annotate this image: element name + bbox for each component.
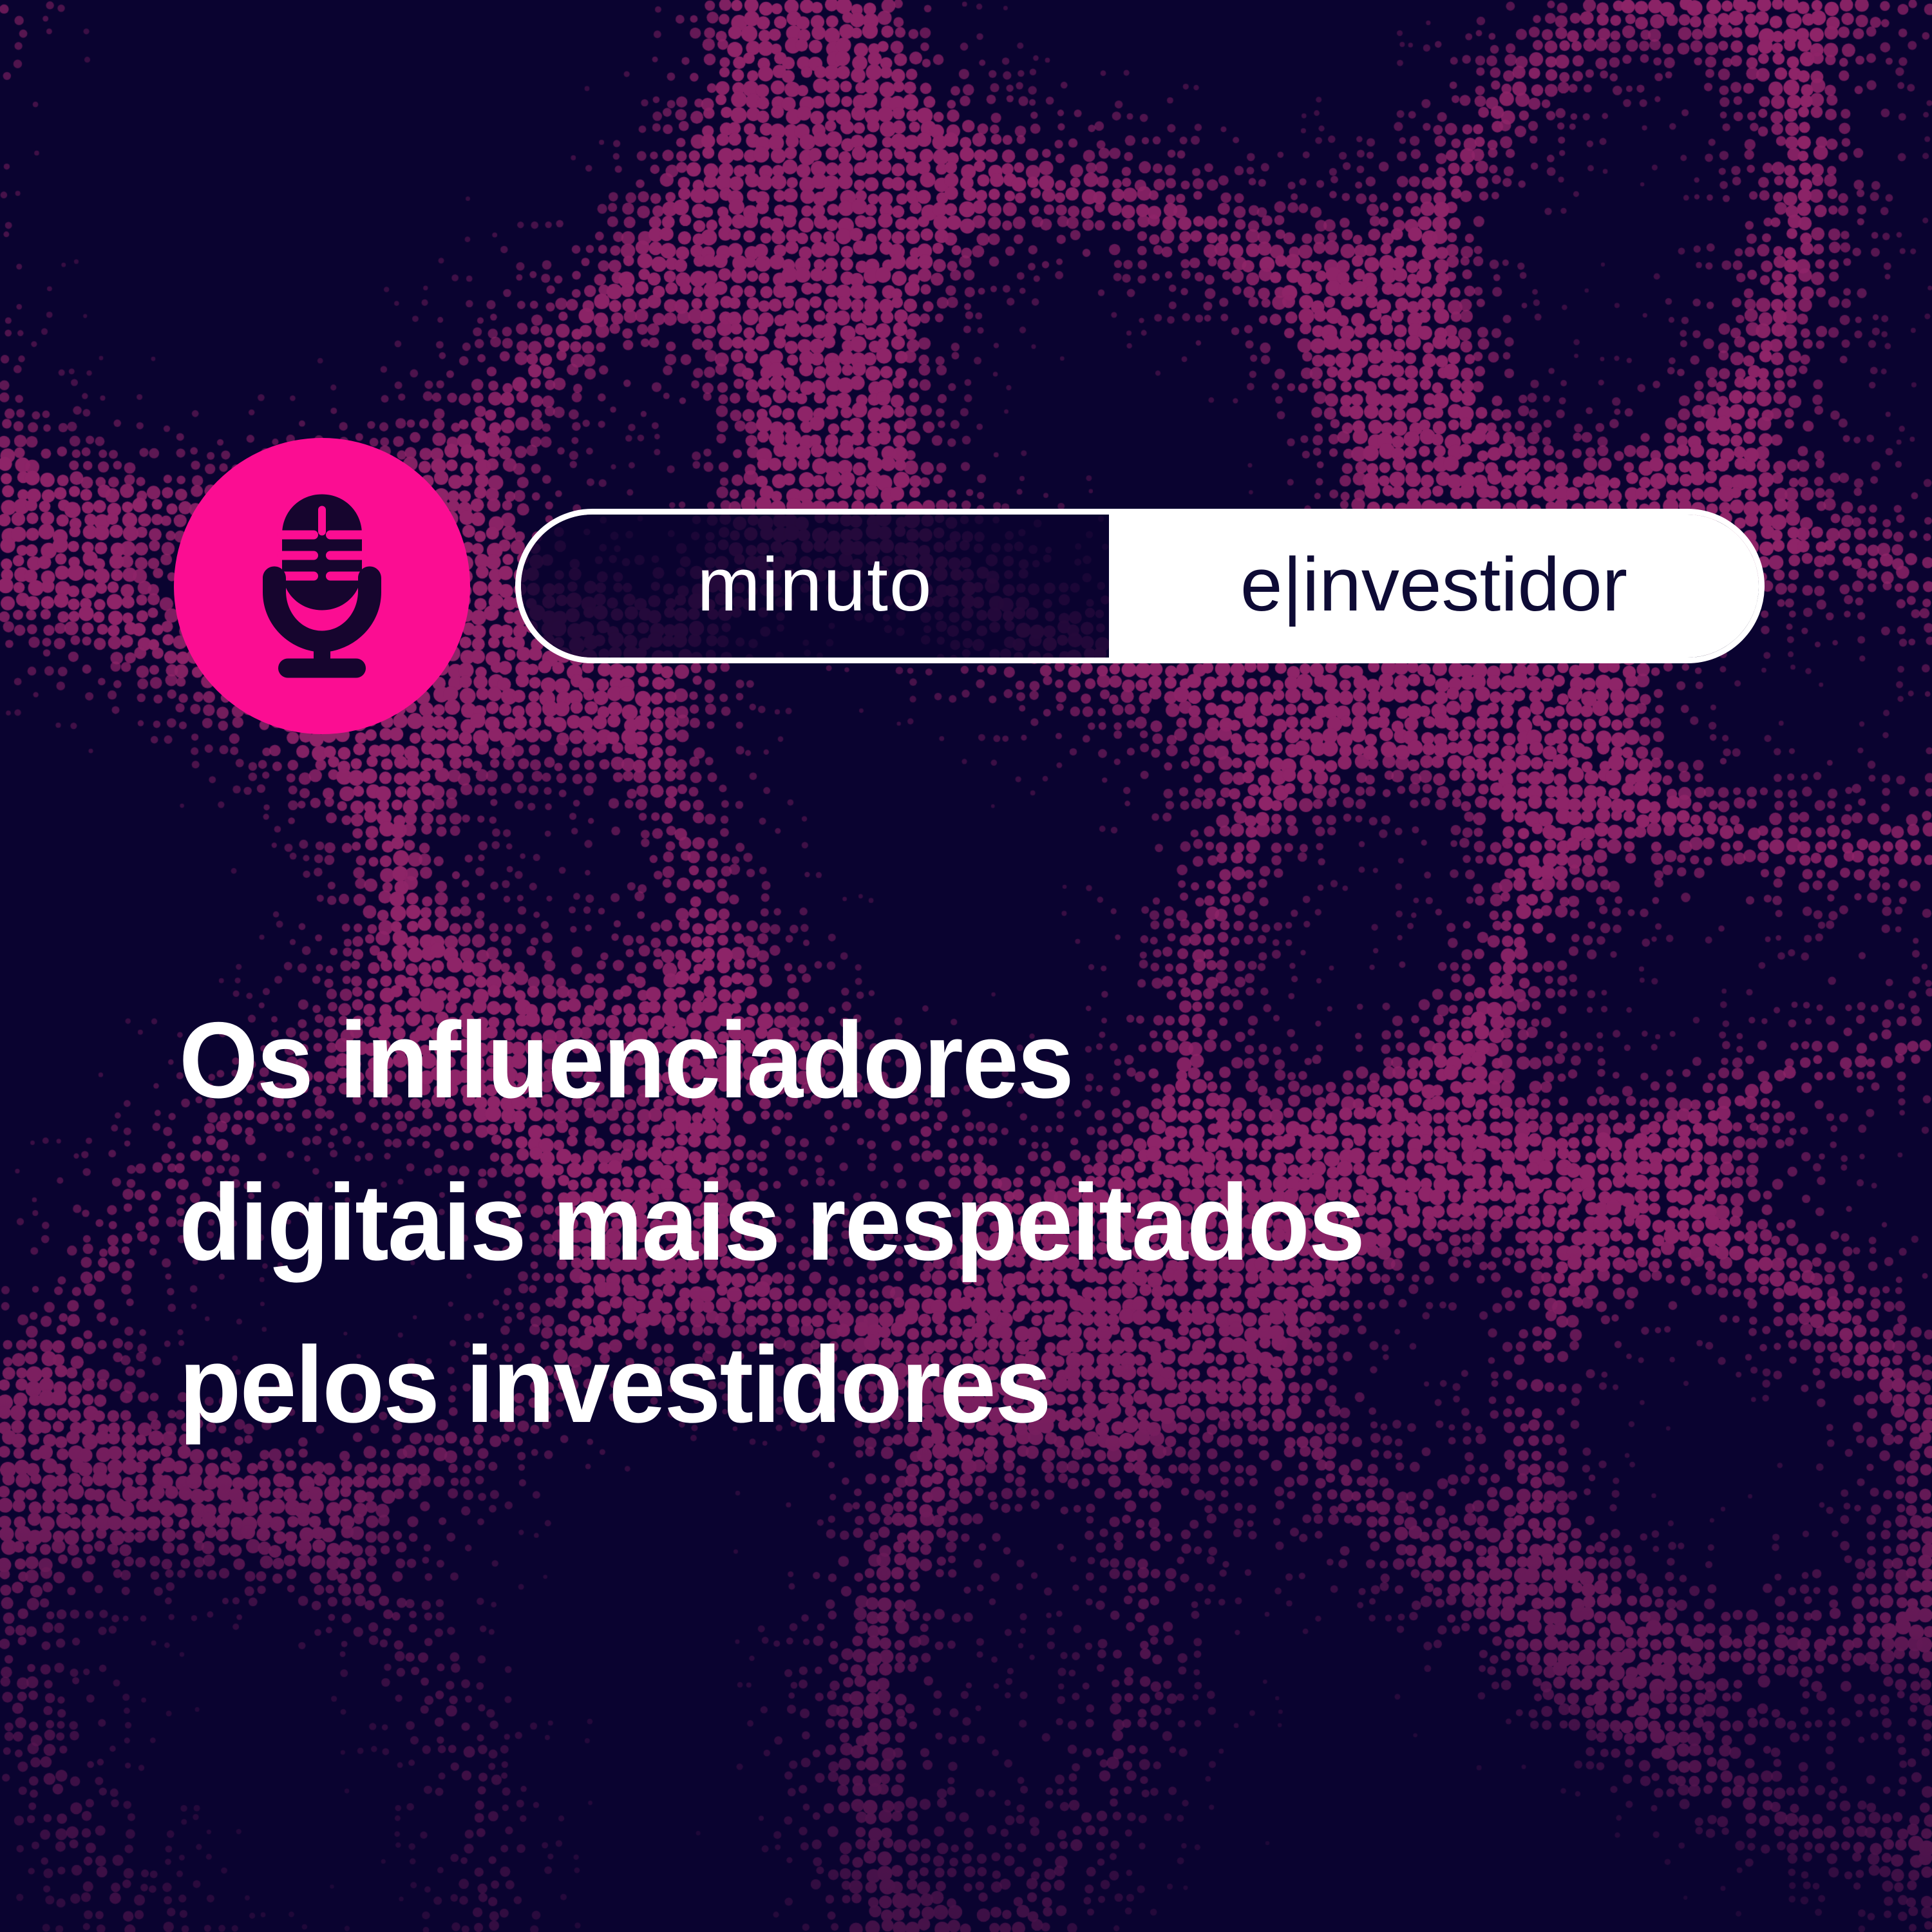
- episode-title-line-3: pelos investidores: [179, 1303, 1728, 1466]
- episode-title-line-1: Os influenciadores: [179, 979, 1728, 1141]
- microphone-badge[interactable]: [174, 438, 470, 734]
- halftone-background: [0, 0, 1932, 1932]
- brand-row: minuto e|investidor: [174, 425, 1771, 760]
- podcast-cover-poster: minuto e|investidor Os influenciadores d…: [0, 0, 1932, 1932]
- episode-title-line-2: digitais mais respeitados: [179, 1141, 1728, 1303]
- brand-logo-pill[interactable]: minuto e|investidor: [515, 509, 1765, 663]
- brand-pill-right-section: e|investidor: [1109, 515, 1759, 658]
- microphone-icon: [238, 495, 406, 678]
- brand-einvestidor-label: e|investidor: [1240, 547, 1627, 623]
- brand-minuto-label: minuto: [697, 547, 933, 623]
- brand-pill-left-section: minuto: [521, 515, 1109, 658]
- episode-title: Os influenciadores digitais mais respeit…: [179, 979, 1828, 1466]
